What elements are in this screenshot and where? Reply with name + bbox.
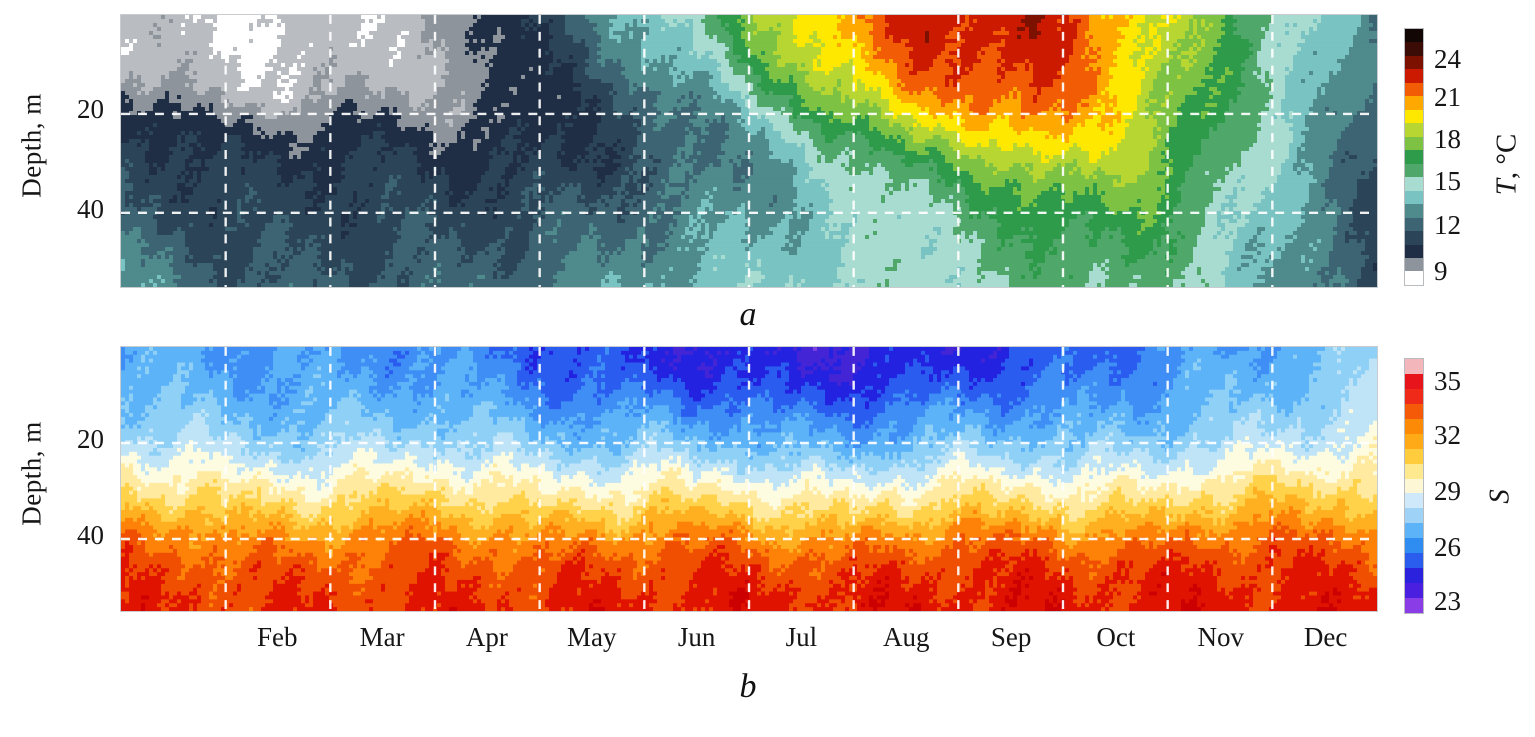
x-axis-tick-oct: Oct [1061, 622, 1171, 653]
panel-a-plot-area [120, 14, 1378, 288]
colorbar-segment [1405, 69, 1423, 82]
x-axis-tick-aug: Aug [851, 622, 961, 653]
colorbar-a-symbol: T [1491, 179, 1523, 195]
x-axis-tick-jul: Jul [746, 622, 856, 653]
panel-b-contour-svg [121, 347, 1377, 611]
colorbar-segment [1405, 389, 1423, 404]
panel-b-plot-area [120, 346, 1378, 612]
panel-a-ytick-40: 40 [48, 194, 104, 225]
colorbar-tick-label: 24 [1434, 46, 1461, 73]
panel-b-y-axis-label: Depth, m [17, 399, 48, 549]
colorbar-tick-label: 21 [1434, 84, 1461, 111]
colorbar-segment [1405, 508, 1423, 523]
colorbar-segment [1405, 404, 1423, 419]
colorbar-segment [1405, 449, 1423, 464]
x-axis-tick-nov: Nov [1166, 622, 1276, 653]
colorbar-tick-label: 26 [1434, 534, 1461, 561]
colorbar-segment [1405, 583, 1423, 598]
colorbar-segment [1405, 191, 1423, 204]
colorbar-segment [1405, 56, 1423, 69]
panel-a-y-axis-label: Depth, m [17, 71, 48, 221]
colorbar-segment [1405, 258, 1423, 271]
colorbar-tick-label: 12 [1434, 212, 1461, 239]
colorbar-segment [1405, 83, 1423, 96]
colorbar-segment [1405, 164, 1423, 177]
colorbar-tick-label: 23 [1434, 588, 1461, 615]
colorbar-segment [1405, 464, 1423, 479]
panel-a-colorbar-strip [1404, 28, 1424, 286]
colorbar-segment [1405, 218, 1423, 231]
x-axis-tick-mar: Mar [327, 622, 437, 653]
colorbar-segment [1405, 598, 1423, 613]
colorbar-segment [1405, 568, 1423, 583]
x-axis-tick-feb: Feb [222, 622, 332, 653]
panel-a-colorbar[interactable]: 24211815129 [1404, 28, 1424, 286]
panel-b-salinity-section[interactable] [120, 346, 1378, 612]
colorbar-segment [1405, 177, 1423, 190]
colorbar-segment [1405, 137, 1423, 150]
colorbar-segment [1405, 204, 1423, 217]
colorbar-segment [1405, 271, 1423, 284]
panel-a-temperature-section[interactable] [120, 14, 1378, 288]
colorbar-segment [1405, 374, 1423, 389]
colorbar-tick-label: 32 [1434, 422, 1461, 449]
colorbar-segment [1405, 419, 1423, 434]
panel-b-ytick-40: 40 [48, 520, 104, 551]
x-axis-tick-apr: Apr [432, 622, 542, 653]
colorbar-tick-label: 15 [1434, 168, 1461, 195]
colorbar-tick-label: 35 [1434, 368, 1461, 395]
colorbar-segment [1405, 523, 1423, 538]
colorbar-segment [1405, 434, 1423, 449]
x-axis-tick-jun: Jun [642, 622, 752, 653]
panel-a-ytick-20: 20 [48, 94, 104, 125]
x-axis-tick-sep: Sep [956, 622, 1066, 653]
colorbar-segment [1405, 538, 1423, 553]
colorbar-segment [1405, 359, 1423, 374]
panel-b-colorbar-title: S [1484, 452, 1517, 542]
figure-container: Depth, m 20 40 a 24211815129 T, °C Depth… [0, 0, 1535, 737]
panel-b-colorbar-strip [1404, 358, 1424, 614]
colorbar-tick-label: 18 [1434, 126, 1461, 153]
colorbar-b-symbol: S [1484, 489, 1516, 504]
colorbar-segment [1405, 245, 1423, 258]
colorbar-segment [1405, 553, 1423, 568]
colorbar-segment [1405, 493, 1423, 508]
colorbar-segment [1405, 231, 1423, 244]
panel-b-letter: b [708, 668, 788, 706]
colorbar-segment [1405, 29, 1423, 42]
panel-b-colorbar[interactable]: 3532292623 [1404, 358, 1424, 614]
x-axis-tick-dec: Dec [1271, 622, 1381, 653]
colorbar-segment [1405, 42, 1423, 55]
colorbar-segment [1405, 479, 1423, 494]
panel-a-colorbar-title: T, °C [1491, 100, 1524, 230]
colorbar-tick-label: 9 [1434, 258, 1448, 285]
colorbar-segment [1405, 150, 1423, 163]
panel-a-letter: a [708, 296, 788, 334]
panel-b-ytick-20: 20 [48, 424, 104, 455]
colorbar-tick-label: 29 [1434, 478, 1461, 505]
x-axis-tick-may: May [537, 622, 647, 653]
colorbar-segment [1405, 96, 1423, 109]
colorbar-segment [1405, 110, 1423, 123]
panel-a-contour-svg [121, 15, 1377, 287]
colorbar-a-unit: °C [1491, 134, 1523, 165]
colorbar-segment [1405, 123, 1423, 136]
